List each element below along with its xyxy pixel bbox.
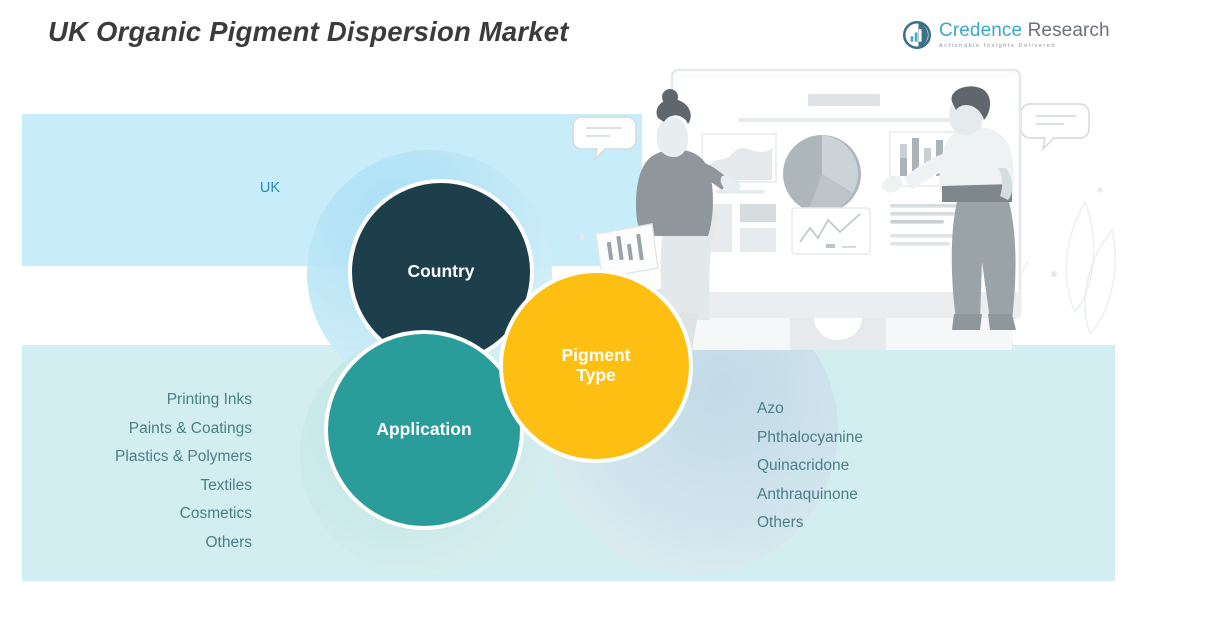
list-item: Azo — [757, 395, 1047, 424]
dot-decoration-right — [1097, 187, 1102, 192]
dot-decoration-left — [579, 234, 584, 239]
brand-name-secondary: Research — [1028, 20, 1110, 41]
pie-chart — [783, 135, 861, 213]
list-item: Paints & Coatings — [40, 415, 252, 444]
venn-circle-pigment-type[interactable]: Pigment Type — [499, 269, 693, 463]
list-item: Phthalocyanine — [757, 424, 1047, 453]
venn-label-pigment-type: Pigment Type — [561, 346, 630, 385]
list-item: Anthraquinone — [757, 481, 1047, 510]
leaf-decoration — [1009, 202, 1115, 350]
screen-title-bar — [808, 94, 880, 106]
country-item-uk: UK — [190, 180, 350, 196]
infographic-canvas: UK Organic Pigment Dispersion Market Cre… — [0, 0, 1207, 623]
brand-tagline: Actionable Insights Delivered — [939, 44, 1110, 50]
list-item: Others — [757, 509, 1047, 538]
kpi-block-b — [740, 204, 776, 222]
list-item: Quinacridone — [757, 452, 1047, 481]
venn-circle-application[interactable]: Application — [324, 330, 524, 530]
brand-name: Credence Research — [939, 21, 1110, 40]
venn-label-country: Country — [407, 262, 474, 282]
page-title: UK Organic Pigment Dispersion Market — [48, 16, 569, 48]
venn-label-pigment-type-line1: Pigment — [561, 345, 630, 365]
application-items-list: Printing Inks Paints & Coatings Plastics… — [40, 386, 252, 557]
list-item: Textiles — [40, 472, 252, 501]
list-item: Plastics & Polymers — [40, 443, 252, 472]
venn-label-pigment-type-line2: Type — [576, 365, 616, 385]
list-item: Others — [40, 529, 252, 558]
bar-chart-circle-icon — [902, 20, 932, 50]
list-item: Cosmetics — [40, 500, 252, 529]
speech-bubble-left — [573, 117, 636, 159]
dot-decoration-lower — [1051, 271, 1057, 277]
kpi-block-c — [740, 228, 776, 252]
brand-logo: Credence Research Actionable Insights De… — [902, 20, 1110, 50]
venn-label-application: Application — [376, 420, 471, 440]
pigment-type-items-list: Azo Phthalocyanine Quinacridone Anthraqu… — [757, 395, 1047, 538]
brand-name-primary: Credence — [939, 20, 1022, 41]
list-item: Printing Inks — [40, 386, 252, 415]
speech-bubble-right — [1021, 104, 1089, 149]
